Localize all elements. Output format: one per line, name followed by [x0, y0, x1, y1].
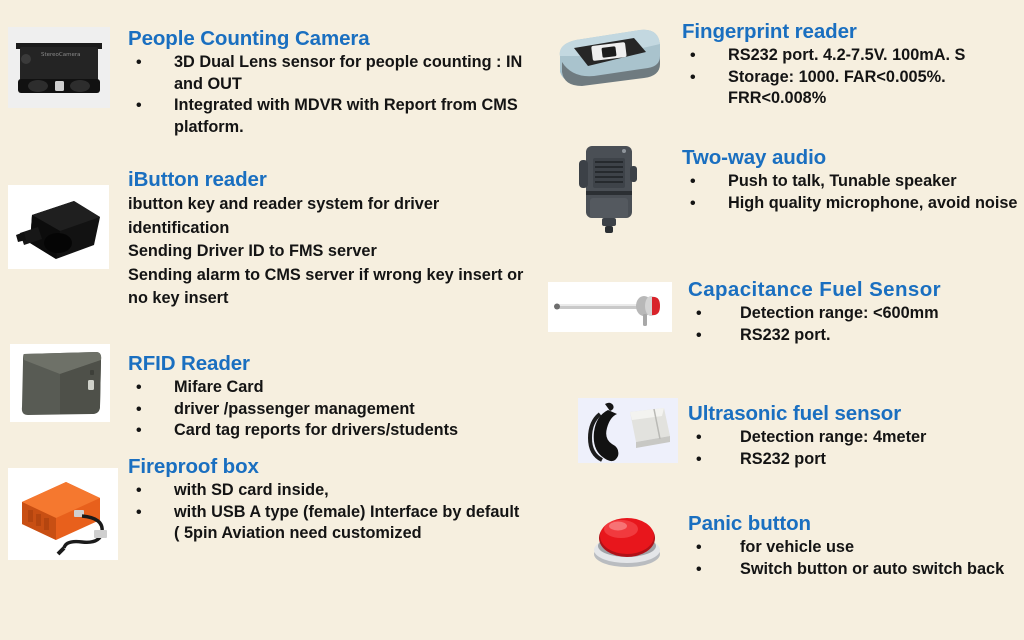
fireproof-box-text: Fireproof box •with SD card inside, •wit…	[128, 455, 528, 545]
list-item: •RS232 port.	[688, 325, 1024, 347]
fingerprint-reader-illustration	[548, 22, 666, 92]
slide-canvas: StereoCamera People Counting Camera •3D …	[0, 0, 1024, 640]
people-counting-camera-text: People Counting Camera •3D Dual Lens sen…	[128, 27, 528, 138]
ultrasonic-sensor-illustration	[578, 398, 678, 463]
bullet-text: Storage: 1000. FAR<0.005%. FRR<0.008%	[728, 68, 946, 108]
bullet-icon: •	[696, 427, 702, 449]
bullet-text: Detection range: 4meter	[740, 428, 926, 446]
ibutton-illustration	[8, 185, 109, 269]
fingerprint-reader-photo	[548, 22, 666, 92]
bullet-text: RS232 port. 4.2-7.5V. 100mA. S	[728, 46, 965, 64]
ultrasonic-fuel-sensor-photo	[578, 398, 678, 463]
rfid-reader-bullets: •Mifare Card •driver /passenger manageme…	[128, 377, 528, 442]
bullet-icon: •	[696, 559, 702, 581]
fingerprint-reader-bullets: •RS232 port. 4.2-7.5V. 100mA. S •Storage…	[682, 45, 1022, 110]
list-item: •Detection range: <600mm	[688, 303, 1024, 325]
list-item: •Storage: 1000. FAR<0.005%. FRR<0.008%	[682, 67, 1022, 110]
bullet-text: Card tag reports for drivers/students	[174, 421, 458, 439]
capacitance-fuel-sensor-title: Capacitance Fuel Sensor	[688, 278, 1024, 301]
ibutton-reader-title: iButton reader	[128, 168, 528, 191]
bullet-icon: •	[690, 45, 696, 67]
bullet-icon: •	[136, 420, 142, 442]
capacitance-fuel-sensor-photo	[548, 282, 672, 332]
bullet-icon: •	[696, 537, 702, 559]
list-item: •RS232 port. 4.2-7.5V. 100mA. S	[682, 45, 1022, 67]
panic-button-bullets: • for vehicle use •Switch button or auto…	[688, 537, 1024, 580]
bullet-icon: •	[690, 67, 696, 89]
panic-button-photo	[588, 510, 666, 572]
list-item: •RS232 port	[688, 449, 1024, 471]
list-item: • for vehicle use	[688, 537, 1024, 559]
bullet-text: with SD card inside,	[174, 481, 329, 499]
panic-button-title: Panic button	[688, 512, 1024, 535]
fireproof-box-bullets: •with SD card inside, •with USB A type (…	[128, 480, 528, 545]
two-way-audio-title: Two-way audio	[682, 146, 1024, 169]
bullet-icon: •	[690, 193, 696, 215]
camera-illustration: StereoCamera	[8, 27, 110, 108]
panic-button-text: Panic button • for vehicle use •Switch b…	[688, 512, 1024, 580]
ibutton-reader-paragraph-3: Sending alarm to CMS server if wrong key…	[128, 264, 528, 311]
rfid-reader-photo	[10, 344, 110, 422]
list-item: •High quality microphone, avoid noise	[682, 193, 1024, 215]
bullet-icon: •	[136, 502, 142, 524]
list-item: •Push to talk, Tunable speaker	[682, 171, 1024, 193]
ibutton-reader-paragraph-1: ibutton key and reader system for driver…	[128, 193, 528, 240]
bullet-text: RS232 port.	[740, 326, 830, 344]
bullet-icon: •	[696, 303, 702, 325]
fireproof-box-title: Fireproof box	[128, 455, 528, 478]
two-way-audio-text: Two-way audio •Push to talk, Tunable spe…	[682, 146, 1024, 214]
fingerprint-reader-title: Fingerprint reader	[682, 20, 1022, 43]
list-item: •Switch button or auto switch back	[688, 559, 1024, 581]
ultrasonic-fuel-sensor-text: Ultrasonic fuel sensor •Detection range:…	[688, 402, 1024, 470]
people-counting-camera-title: People Counting Camera	[128, 27, 528, 50]
panic-button-illustration	[588, 510, 666, 572]
list-item: •Detection range: 4meter	[688, 427, 1024, 449]
bullet-text: Mifare Card	[174, 378, 264, 396]
two-way-audio-bullets: •Push to talk, Tunable speaker •High qua…	[682, 171, 1024, 214]
bullet-text: Push to talk, Tunable speaker	[728, 172, 957, 190]
ibutton-reader-text: iButton reader ibutton key and reader sy…	[128, 168, 528, 311]
bullet-icon: •	[136, 52, 142, 74]
bullet-text: High quality microphone, avoid noise	[728, 194, 1017, 212]
list-item: •Mifare Card	[128, 377, 528, 399]
list-item: •driver /passenger management	[128, 399, 528, 421]
bullet-text: RS232 port	[740, 450, 826, 468]
svg-text:StereoCamera: StereoCamera	[41, 52, 81, 58]
rfid-reader-text: RFID Reader •Mifare Card •driver /passen…	[128, 352, 528, 442]
list-item: •3D Dual Lens sensor for people counting…	[128, 52, 528, 95]
bullet-icon: •	[696, 325, 702, 347]
bullet-icon: •	[136, 377, 142, 399]
rfid-illustration	[10, 344, 110, 422]
people-counting-camera-photo: StereoCamera	[8, 27, 110, 108]
handheld-microphone-photo	[562, 142, 658, 234]
bullet-text: Switch button or auto switch back	[740, 560, 1004, 578]
bullet-icon: •	[690, 171, 696, 193]
list-item: •with SD card inside,	[128, 480, 528, 502]
ultrasonic-fuel-sensor-title: Ultrasonic fuel sensor	[688, 402, 1024, 425]
capacitance-sensor-illustration	[548, 282, 672, 332]
bullet-icon: •	[136, 480, 142, 502]
bullet-text: Integrated with MDVR with Report from CM…	[174, 96, 518, 136]
bullet-icon: •	[136, 95, 142, 117]
list-item: •Card tag reports for drivers/students	[128, 420, 528, 442]
fingerprint-reader-text: Fingerprint reader •RS232 port. 4.2-7.5V…	[682, 20, 1022, 110]
ultrasonic-fuel-sensor-bullets: •Detection range: 4meter •RS232 port	[688, 427, 1024, 470]
bullet-icon: •	[136, 399, 142, 421]
list-item: •Integrated with MDVR with Report from C…	[128, 95, 528, 138]
fireproof-box-photo	[8, 468, 118, 560]
capacitance-fuel-sensor-bullets: •Detection range: <600mm •RS232 port.	[688, 303, 1024, 346]
list-item: •with USB A type (female) Interface by d…	[128, 502, 528, 545]
bullet-text: for vehicle use	[740, 538, 854, 556]
bullet-text: 3D Dual Lens sensor for people counting …	[174, 53, 522, 93]
fireproof-box-illustration	[8, 468, 118, 560]
bullet-text: with USB A type (female) Interface by de…	[174, 503, 519, 543]
bullet-icon: •	[696, 449, 702, 471]
rfid-reader-title: RFID Reader	[128, 352, 528, 375]
ibutton-reader-photo	[8, 185, 109, 269]
bullet-text: Detection range: <600mm	[740, 304, 939, 322]
microphone-illustration	[562, 142, 658, 234]
bullet-text: driver /passenger management	[174, 400, 415, 418]
capacitance-fuel-sensor-text: Capacitance Fuel Sensor •Detection range…	[688, 278, 1024, 346]
people-counting-camera-bullets: •3D Dual Lens sensor for people counting…	[128, 52, 528, 138]
ibutton-reader-paragraph-2: Sending Driver ID to FMS server	[128, 240, 528, 264]
